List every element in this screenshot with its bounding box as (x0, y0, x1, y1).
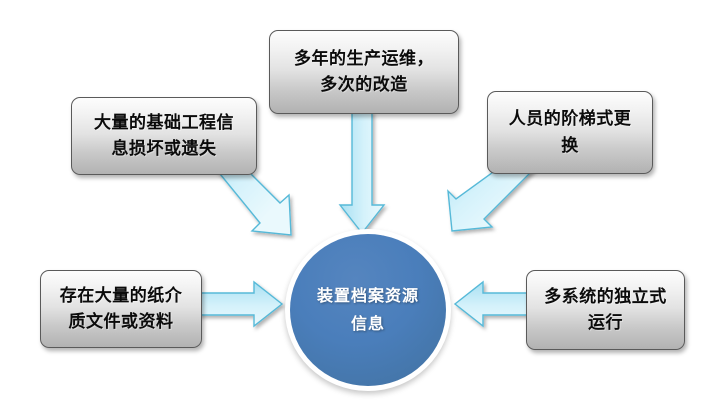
arrow-down-from-top-box (340, 112, 384, 233)
node-label-top-right: 人员的阶梯式更 换 (501, 106, 640, 159)
center-hub-fill: 装置档案资源 信息 (290, 234, 446, 386)
node-box-left[interactable]: 存在大量的纸介 质文件或资料 (40, 270, 202, 348)
node-box-top-right[interactable]: 人员的阶梯式更 换 (487, 91, 653, 174)
node-label-right: 多系统的独立式 运行 (536, 284, 675, 337)
center-hub-label: 装置档案资源 信息 (317, 282, 419, 338)
node-label-left: 存在大量的纸介 质文件或资料 (52, 283, 191, 336)
node-label-top: 多年的生产运维， 多次的改造 (286, 46, 442, 99)
node-box-right[interactable]: 多系统的独立式 运行 (526, 270, 685, 350)
node-box-top-left[interactable]: 大量的基础工程信 息损坏或遗失 (71, 97, 257, 175)
node-box-top[interactable]: 多年的生产运维， 多次的改造 (269, 30, 459, 114)
diagram-canvas: 多年的生产运维， 多次的改造 大量的基础工程信 息损坏或遗失 人员的阶梯式更 换… (0, 0, 723, 417)
arrow-right-from-left-box (199, 282, 282, 326)
arrow-left-from-right-box (455, 282, 528, 326)
node-label-top-left: 大量的基础工程信 息损坏或遗失 (86, 110, 242, 163)
center-hub[interactable]: 装置档案资源 信息 (285, 229, 451, 391)
